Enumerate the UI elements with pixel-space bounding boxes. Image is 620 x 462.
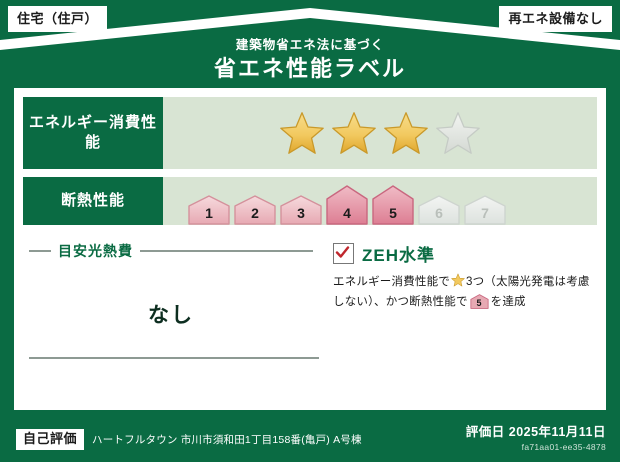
star-icon-inline bbox=[451, 273, 465, 294]
zeh-description: エネルギー消費性能で3つ（太陽光発電は考慮しない）、かつ断熱性能で5を達成 bbox=[333, 273, 593, 312]
insulation-level-icon-inline: 5 bbox=[470, 294, 489, 309]
insulation-level-number: 2 bbox=[233, 206, 277, 220]
star-icon-filled bbox=[383, 110, 429, 156]
insulation-level-1: 1 bbox=[187, 195, 231, 225]
label-card: エネルギー消費性能 bbox=[14, 88, 606, 410]
zeh-title: ZEH水準 bbox=[362, 241, 435, 266]
check-icon bbox=[335, 245, 350, 260]
utility-cost-section: 目安光熱費 なし bbox=[23, 235, 319, 385]
insulation-performance-row: 断熱性能 1 2 3 bbox=[23, 177, 597, 225]
energy-performance-row: エネルギー消費性能 bbox=[23, 97, 597, 169]
insulation-level-number: 5 bbox=[371, 206, 415, 220]
star-icon-filled bbox=[331, 110, 377, 156]
property-address: ハートフルタウン 市川市須和田1丁目158番(亀戸) A号棟 bbox=[92, 432, 362, 447]
insulation-level-2: 2 bbox=[233, 195, 277, 225]
zeh-checkbox[interactable] bbox=[333, 243, 354, 264]
badge-renewable-energy: 再エネ設備なし bbox=[499, 6, 612, 32]
zeh-header: ZEH水準 bbox=[333, 241, 593, 266]
footer-left-group: 自己評価 ハートフルタウン 市川市須和田1丁目158番(亀戸) A号棟 bbox=[16, 429, 362, 450]
badge-building-type: 住宅（住戸） bbox=[8, 6, 107, 32]
label-footer: 自己評価 ハートフルタウン 市川市須和田1丁目158番(亀戸) A号棟 評価日 … bbox=[0, 410, 620, 462]
insulation-level-3: 3 bbox=[279, 195, 323, 225]
star-icon-empty bbox=[435, 110, 481, 156]
label-title-block: 建築物省エネ法に基づく 省エネ性能ラベル bbox=[0, 38, 620, 83]
footer-right-group: 評価日 2025年11月11日 fa71aa01-ee35-4878 bbox=[466, 421, 606, 452]
utility-cost-header: 目安光熱費 bbox=[29, 241, 313, 261]
zeh-section: ZEH水準 エネルギー消費性能で3つ（太陽光発電は考慮しない）、かつ断熱性能で5… bbox=[319, 235, 597, 385]
zeh-desc-part-4: を達成 bbox=[491, 296, 526, 308]
insulation-level-5: 5 bbox=[371, 185, 415, 225]
utility-cost-bottom-rule bbox=[29, 357, 319, 359]
insulation-level-6: 6 bbox=[417, 195, 461, 225]
insulation-performance-label-key: 断熱性能 bbox=[23, 177, 163, 225]
insulation-scale: 1 2 3 4 bbox=[187, 181, 507, 225]
energy-performance-label: 住宅（住戸） 再エネ設備なし 建築物省エネ法に基づく 省エネ性能ラベル エネルギ… bbox=[0, 0, 620, 462]
insulation-level-number: 4 bbox=[325, 206, 369, 220]
insulation-level-icon-number: 5 bbox=[470, 299, 489, 308]
rule-left bbox=[29, 250, 51, 252]
rule-right bbox=[140, 250, 313, 252]
zeh-desc-part-1: エネルギー消費性能で bbox=[333, 276, 450, 288]
energy-performance-value bbox=[163, 97, 597, 169]
insulation-performance-value: 1 2 3 4 bbox=[163, 177, 597, 225]
utility-cost-title: 目安光熱費 bbox=[58, 241, 133, 261]
utility-cost-value: なし bbox=[29, 299, 313, 329]
insulation-level-number: 6 bbox=[417, 206, 461, 220]
page-title: 省エネ性能ラベル bbox=[0, 55, 620, 83]
star-rating bbox=[279, 110, 481, 156]
evaluation-date: 評価日 2025年11月11日 bbox=[466, 421, 606, 440]
insulation-level-number: 1 bbox=[187, 206, 231, 220]
insulation-level-number: 3 bbox=[279, 206, 323, 220]
self-evaluation-badge: 自己評価 bbox=[16, 429, 84, 450]
title-subtitle: 建築物省エネ法に基づく bbox=[0, 38, 620, 53]
insulation-level-number: 7 bbox=[463, 206, 507, 220]
evaluation-id: fa71aa01-ee35-4878 bbox=[466, 442, 606, 452]
label-bottom-section: 目安光熱費 なし ZEH水準 エネルギー消費性能で3つ（太陽光発電は考慮しな bbox=[23, 235, 597, 385]
insulation-level-7: 7 bbox=[463, 195, 507, 225]
energy-performance-label-key: エネルギー消費性能 bbox=[23, 97, 163, 169]
insulation-level-4: 4 bbox=[325, 185, 369, 225]
star-icon-filled bbox=[279, 110, 325, 156]
zeh-desc-part-2: 3つ（太陽光発電 bbox=[466, 276, 555, 288]
